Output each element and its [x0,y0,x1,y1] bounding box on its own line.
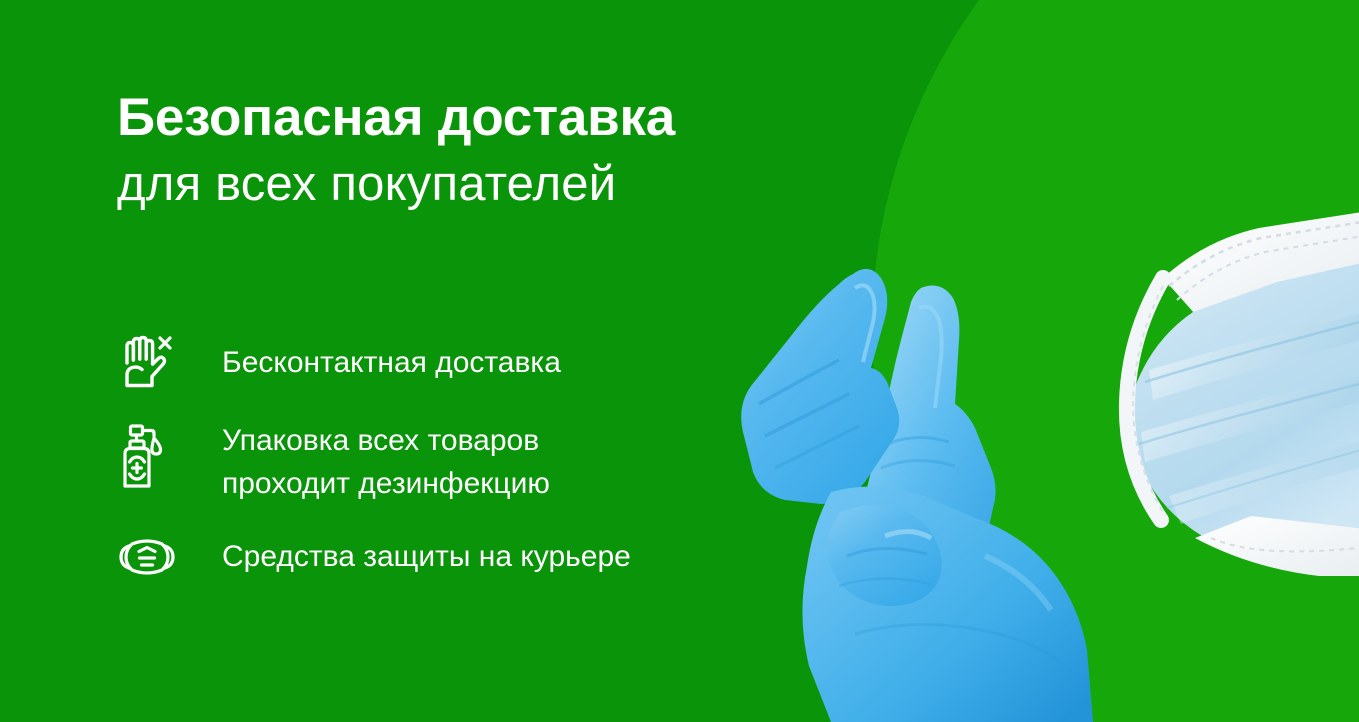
feature-list: Бесконтактная доставка [118,330,778,586]
face-mask-icon [118,528,180,586]
page-subtitle: для всех покупателей [117,157,817,212]
feature-label: Упаковка всех товаров проходит дезинфекц… [180,416,778,506]
feature-item-contactless-delivery: Бесконтактная доставка [118,330,778,394]
feature-item-package-disinfection: Упаковка всех товаров проходит дезинфекц… [118,416,778,506]
feature-label: Бесконтактная доставка [180,330,778,385]
sanitizer-bottle-icon [118,416,180,494]
no-touch-hand-icon [118,330,180,394]
page-title: Безопасная доставка [117,88,817,147]
feature-label: Средства защиты на курьере [180,528,778,579]
safe-delivery-banner: Безопасная доставка для всех покупателей [0,0,1359,722]
feature-item-courier-protection: Средства защиты на курьере [118,528,778,586]
headline-block: Безопасная доставка для всех покупателей [117,88,817,212]
